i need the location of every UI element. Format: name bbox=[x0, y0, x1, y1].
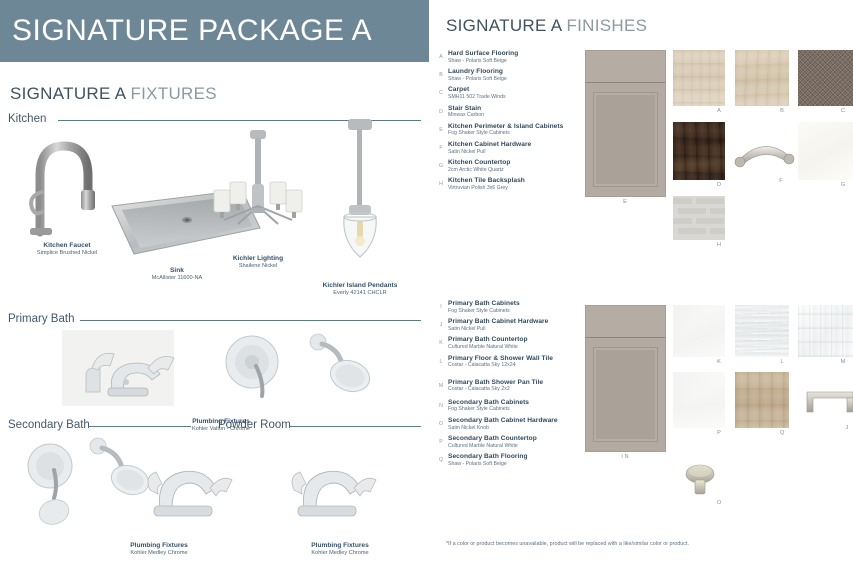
swatch-kitchen-cabinet-pull bbox=[733, 132, 797, 172]
finish-letter: H bbox=[436, 181, 446, 187]
finish-sub: Shaw - Polaris Soft Beige bbox=[448, 76, 507, 82]
finish-item: P Secondary Bath Countertop Cultured Mar… bbox=[436, 435, 586, 453]
finishes-column: SIGNATURE A FINISHES A Hard Surface Floo… bbox=[430, 0, 853, 569]
cabinet-pull-icon bbox=[733, 132, 797, 172]
swatch-letter-m: M bbox=[836, 359, 850, 365]
finish-name: Primary Bath Countertop bbox=[448, 336, 528, 343]
page-title: SIGNATURE PACKAGE A bbox=[0, 14, 372, 48]
primary-bath-fixtures-icon bbox=[56, 330, 386, 415]
cabinet-panel-inset bbox=[593, 92, 658, 188]
swatch-secondary-bath-flooring bbox=[735, 372, 789, 428]
finish-letter: F bbox=[436, 145, 446, 151]
finish-item: E Kitchen Perimeter & Island Cabinets Fo… bbox=[436, 123, 586, 141]
finish-letter: D bbox=[436, 109, 446, 115]
finish-sub: Shaw - Polaris Soft Beige bbox=[448, 461, 507, 467]
finish-item: K Primary Bath Countertop Cultured Marbl… bbox=[436, 336, 586, 354]
finish-sub: Fog Shaker Style Cabinets bbox=[448, 406, 510, 412]
fixture-sub: Everly 42141 CHCLR bbox=[290, 290, 430, 297]
finish-letter: J bbox=[436, 322, 446, 328]
room-rule-primary-bath bbox=[80, 320, 421, 321]
fixture-sub: Kohler Medley Chrome bbox=[250, 550, 430, 557]
fixture-sub: McAllister 11600-NA bbox=[82, 275, 272, 282]
finish-letter: P bbox=[436, 439, 446, 445]
finish-item: F Kitchen Cabinet Hardware Satin Nickel … bbox=[436, 141, 586, 159]
finish-name: Kitchen Tile Backsplash bbox=[448, 177, 525, 184]
finish-item: M Primary Bath Shower Pan Tile Costar - … bbox=[436, 373, 586, 399]
swatch-letter-q: Q bbox=[775, 430, 789, 436]
finishes-list-bottom: I Primary Bath Cabinets Fog Shaker Style… bbox=[436, 300, 586, 472]
fixture-island-pendants: Kichler Island Pendants Everly 42141 CHC… bbox=[290, 117, 430, 297]
fixtures-title-strong: SIGNATURE A bbox=[10, 84, 130, 103]
cabinet-drawer-face bbox=[586, 51, 665, 83]
finish-item: O Secondary Bath Cabinet Hardware Satin … bbox=[436, 417, 586, 435]
swatch-primary-bath-pull bbox=[804, 386, 853, 416]
finish-letter: L bbox=[436, 359, 446, 365]
finish-letter: A bbox=[436, 54, 446, 60]
finish-item: L Primary Floor & Shower Wall Tile Costa… bbox=[436, 355, 586, 373]
swatch-kitchen-countertop bbox=[798, 122, 853, 180]
finish-name: Primary Floor & Shower Wall Tile bbox=[448, 355, 553, 362]
finish-name: Hard Surface Flooring bbox=[448, 50, 518, 57]
fixture-caption: Plumbing Fixtures Kohler Valton - Chrome bbox=[56, 418, 386, 433]
swatch-bath-cabinet-door bbox=[585, 305, 666, 452]
swatch-kitchen-backsplash bbox=[673, 196, 725, 240]
finish-item: N Secondary Bath Cabinets Fog Shaker Sty… bbox=[436, 399, 586, 417]
fixture-caption: Plumbing Fixtures Kohler Medley Chrome bbox=[250, 542, 430, 557]
swatch-stair-stain bbox=[673, 122, 725, 180]
swatch-shower-pan-tile bbox=[798, 305, 853, 357]
finish-sub: Costar - Calacatta Sky 12x24 bbox=[448, 362, 515, 368]
tile-unit bbox=[673, 217, 693, 225]
finish-name: Carpet bbox=[448, 86, 469, 93]
swatch-letter-l: L bbox=[775, 359, 789, 365]
fixture-caption: Plumbing Fixtures Kohler Medley Chrome bbox=[78, 542, 240, 557]
page-header-bar: SIGNATURE PACKAGE A bbox=[0, 0, 429, 62]
room-label-primary-bath: Primary Bath bbox=[8, 313, 74, 325]
swatch-letter-b: B bbox=[775, 108, 789, 114]
finish-letter: Q bbox=[436, 457, 446, 463]
finish-item: G Kitchen Countertop 2cm Arctic White Qu… bbox=[436, 159, 586, 177]
finish-letter: N bbox=[436, 403, 446, 409]
swatch-secondary-bath-knob bbox=[678, 460, 722, 500]
tile-unit bbox=[695, 217, 725, 225]
finish-letter: B bbox=[436, 72, 446, 78]
swatch-carpet bbox=[798, 50, 853, 106]
disclaimer-text: *If a color or product becomes unavailab… bbox=[446, 541, 689, 547]
swatch-primary-bath-countertop bbox=[673, 305, 725, 357]
swatch-letter-g: G bbox=[836, 182, 850, 188]
swatch-letter-j: J bbox=[840, 425, 853, 431]
tile-unit bbox=[673, 197, 693, 205]
cabinet-door-graphic bbox=[585, 305, 666, 452]
finish-item: I Primary Bath Cabinets Fog Shaker Style… bbox=[436, 300, 586, 318]
swatch-letter-d: D bbox=[712, 182, 726, 188]
finish-name: Primary Bath Shower Pan Tile bbox=[448, 379, 543, 386]
fixture-sub: Kohler Medley Chrome bbox=[78, 550, 240, 557]
swatch-letter-e: E bbox=[618, 199, 632, 205]
tile-unit bbox=[709, 207, 725, 215]
swatch-hard-surface-flooring bbox=[673, 50, 725, 106]
finish-name: Kitchen Perimeter & Island Cabinets bbox=[448, 123, 563, 130]
finish-sub: Shaw - Polaris Soft Beige bbox=[448, 58, 507, 64]
finish-name: Primary Bath Cabinet Hardware bbox=[448, 318, 548, 325]
fixture-primary-bath-plumbing: Plumbing Fixtures Kohler Valton - Chrome bbox=[56, 330, 386, 433]
finishes-title-muted: FINISHES bbox=[566, 16, 647, 35]
finish-item: H Kitchen Tile Backsplash Virtruvian Pol… bbox=[436, 177, 586, 195]
finish-letter: E bbox=[436, 127, 446, 133]
swatch-letter-o: O bbox=[712, 500, 726, 506]
finish-letter: O bbox=[436, 421, 446, 427]
fixture-secondary-bath-plumbing: Plumbing Fixtures Kohler Medley Chrome bbox=[20, 436, 240, 557]
fixture-name: Kichler Island Pendants bbox=[290, 282, 430, 290]
fixture-powder-room-plumbing: Plumbing Fixtures Kohler Medley Chrome bbox=[250, 436, 430, 557]
finish-item: D Stair Stain Minwax Carbon bbox=[436, 105, 586, 123]
tile-unit bbox=[677, 227, 707, 235]
finish-name: Secondary Bath Flooring bbox=[448, 453, 528, 460]
swatch-letter-in: I N bbox=[618, 454, 632, 460]
tile-unit bbox=[677, 207, 707, 215]
fixtures-column: SIGNATURE A FIXTURES Kitchen Primary Bat… bbox=[0, 62, 429, 569]
finish-name: Secondary Bath Countertop bbox=[448, 435, 537, 442]
finishes-list-top: A Hard Surface Flooring Shaw - Polaris S… bbox=[436, 50, 586, 196]
finish-sub: Virtruvian Polish 3x6 Grey bbox=[448, 185, 508, 191]
cabinet-drawer-face bbox=[586, 306, 665, 338]
finishes-section-title: SIGNATURE A FINISHES bbox=[446, 16, 647, 36]
fixture-name: Plumbing Fixtures bbox=[250, 542, 430, 550]
swatch-laundry-flooring bbox=[735, 50, 789, 106]
swatch-letter-c: C bbox=[836, 108, 850, 114]
finish-sub: SMH11 502 Trade Winds bbox=[448, 94, 506, 100]
swatch-secondary-bath-countertop bbox=[673, 372, 725, 428]
tile-unit bbox=[695, 197, 725, 205]
finish-sub: Costar - Calacatta Sky 2x2 bbox=[448, 386, 510, 392]
finish-letter: C bbox=[436, 90, 446, 96]
fixture-name: Plumbing Fixtures bbox=[56, 418, 386, 426]
fixture-name: Plumbing Fixtures bbox=[78, 542, 240, 550]
swatch-kitchen-cabinet-door bbox=[585, 50, 666, 197]
cabinet-door-graphic bbox=[585, 50, 666, 197]
finish-name: Kitchen Countertop bbox=[448, 159, 510, 166]
finish-item: B Laundry Flooring Shaw - Polaris Soft B… bbox=[436, 68, 586, 86]
finish-sub: Minwax Carbon bbox=[448, 112, 484, 118]
finish-name: Secondary Bath Cabinets bbox=[448, 399, 529, 406]
finish-sub: Satin Nickel Pull bbox=[448, 149, 485, 155]
finish-sub: Satin Nickel Pull bbox=[448, 326, 485, 332]
finish-sub: Cultured Marble Natural White bbox=[448, 443, 518, 449]
finish-schedule-page: SIGNATURE PACKAGE A SIGNATURE A FIXTURES… bbox=[0, 0, 853, 569]
swatch-letter-k: K bbox=[712, 359, 726, 365]
finishes-title-strong: SIGNATURE A bbox=[446, 16, 566, 35]
swatch-letter-f: F bbox=[774, 178, 788, 184]
finish-item: C Carpet SMH11 502 Trade Winds bbox=[436, 86, 586, 104]
cabinet-panel-inset bbox=[593, 347, 658, 443]
swatch-primary-floor-shower-tile bbox=[735, 305, 789, 357]
cabinet-knob-icon bbox=[678, 460, 722, 500]
finish-name: Laundry Flooring bbox=[448, 68, 503, 75]
finish-item: A Hard Surface Flooring Shaw - Polaris S… bbox=[436, 50, 586, 68]
swatch-letter-h: H bbox=[712, 242, 726, 248]
finish-letter: G bbox=[436, 163, 446, 169]
finish-sub: Cultured Marble Natural White bbox=[448, 344, 518, 350]
secondary-bath-fixtures-icon bbox=[20, 436, 240, 541]
finish-item: Q Secondary Bath Flooring Shaw - Polaris… bbox=[436, 453, 586, 471]
finish-item: J Primary Bath Cabinet Hardware Satin Ni… bbox=[436, 318, 586, 336]
finish-sub: Fog Shaker Style Cabinets bbox=[448, 130, 510, 136]
pendant-light-icon bbox=[290, 117, 430, 277]
tile-unit bbox=[709, 227, 725, 235]
room-label-kitchen: Kitchen bbox=[8, 113, 46, 125]
swatch-letter-p: P bbox=[712, 430, 726, 436]
finish-letter: K bbox=[436, 340, 446, 346]
swatch-letter-a: A bbox=[712, 108, 726, 114]
fixture-sub: Kohler Valton - Chrome bbox=[56, 426, 386, 433]
powder-room-faucet-icon bbox=[250, 436, 430, 541]
finish-letter: M bbox=[436, 383, 446, 389]
finish-sub: 2cm Arctic White Quartz bbox=[448, 167, 504, 173]
bar-pull-icon bbox=[804, 386, 853, 416]
fixtures-section-title: SIGNATURE A FIXTURES bbox=[10, 84, 217, 104]
finish-letter: I bbox=[436, 304, 446, 310]
finish-sub: Fog Shaker Style Cabinets bbox=[448, 308, 510, 314]
finish-sub: Satin Nickel Knob bbox=[448, 425, 489, 431]
finish-name: Primary Bath Cabinets bbox=[448, 300, 520, 307]
finish-name: Kitchen Cabinet Hardware bbox=[448, 141, 531, 148]
fixtures-title-muted: FIXTURES bbox=[130, 84, 216, 103]
finish-name: Stair Stain bbox=[448, 105, 481, 112]
finish-name: Secondary Bath Cabinet Hardware bbox=[448, 417, 558, 424]
